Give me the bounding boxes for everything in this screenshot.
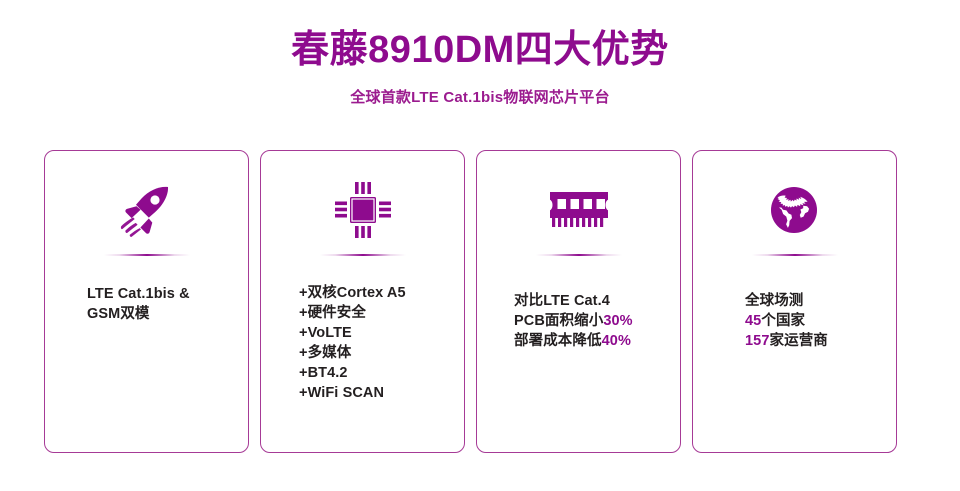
card-line: +BT4.2 (299, 363, 454, 383)
feature-card-4-text: 全球场测 45个国家 157家运营商 (745, 291, 886, 351)
card-line: GSM双模 (87, 304, 238, 324)
card-divider (752, 254, 838, 256)
feature-card-3[interactable]: 对比LTE Cat.4 PCB面积缩小30% 部署成本降低40% (476, 150, 681, 453)
card-divider (104, 254, 190, 256)
feature-card-row: LTE Cat.1bis & GSM双模 (44, 150, 914, 453)
card-line: 对比LTE Cat.4 (514, 291, 670, 311)
feature-card-3-text: 对比LTE Cat.4 PCB面积缩小30% 部署成本降低40% (514, 291, 670, 351)
card-divider (320, 254, 406, 256)
card-line-post: 家运营商 (770, 333, 828, 349)
rocket-icon (45, 177, 248, 243)
card-line-post: 个国家 (761, 313, 805, 329)
feature-card-2-text: +双核Cortex A5 +硬件安全 +VoLTE +多媒体 +BT4.2 +W… (299, 283, 454, 403)
feature-card-1[interactable]: LTE Cat.1bis & GSM双模 (44, 150, 249, 453)
card-line: LTE Cat.1bis & (87, 284, 238, 304)
card-line-highlight: 40% (602, 333, 631, 349)
card-line: +多媒体 (299, 343, 454, 363)
slide-canvas: 春藤8910DM四大优势 全球首款LTE Cat.1bis物联网芯片平台 (0, 0, 960, 491)
card-line: +WiFi SCAN (299, 383, 454, 403)
card-line: PCB面积缩小30% (514, 311, 670, 331)
card-line: +VoLTE (299, 323, 454, 343)
feature-card-2[interactable]: +双核Cortex A5 +硬件安全 +VoLTE +多媒体 +BT4.2 +W… (260, 150, 465, 453)
slide-header: 春藤8910DM四大优势 全球首款LTE Cat.1bis物联网芯片平台 (0, 26, 960, 108)
cpu-chip-icon (261, 177, 464, 243)
card-line-pre: PCB面积缩小 (514, 313, 603, 329)
card-line: +双核Cortex A5 (299, 283, 454, 303)
page-subtitle: 全球首款LTE Cat.1bis物联网芯片平台 (0, 88, 960, 108)
card-line: 45个国家 (745, 311, 886, 331)
globe-icon (693, 177, 896, 243)
feature-card-4[interactable]: 全球场测 45个国家 157家运营商 (692, 150, 897, 453)
card-line: 157家运营商 (745, 331, 886, 351)
card-line-highlight: 45 (745, 313, 761, 329)
feature-card-1-text: LTE Cat.1bis & GSM双模 (87, 284, 238, 324)
card-line: +硬件安全 (299, 303, 454, 323)
card-line: 部署成本降低40% (514, 331, 670, 351)
memory-module-icon (477, 177, 680, 243)
page-title: 春藤8910DM四大优势 (0, 26, 960, 74)
card-line-pre: 部署成本降低 (514, 333, 602, 349)
card-line: 全球场测 (745, 291, 886, 311)
card-line-highlight: 30% (603, 313, 632, 329)
card-divider (536, 254, 622, 256)
card-line-highlight: 157 (745, 333, 770, 349)
